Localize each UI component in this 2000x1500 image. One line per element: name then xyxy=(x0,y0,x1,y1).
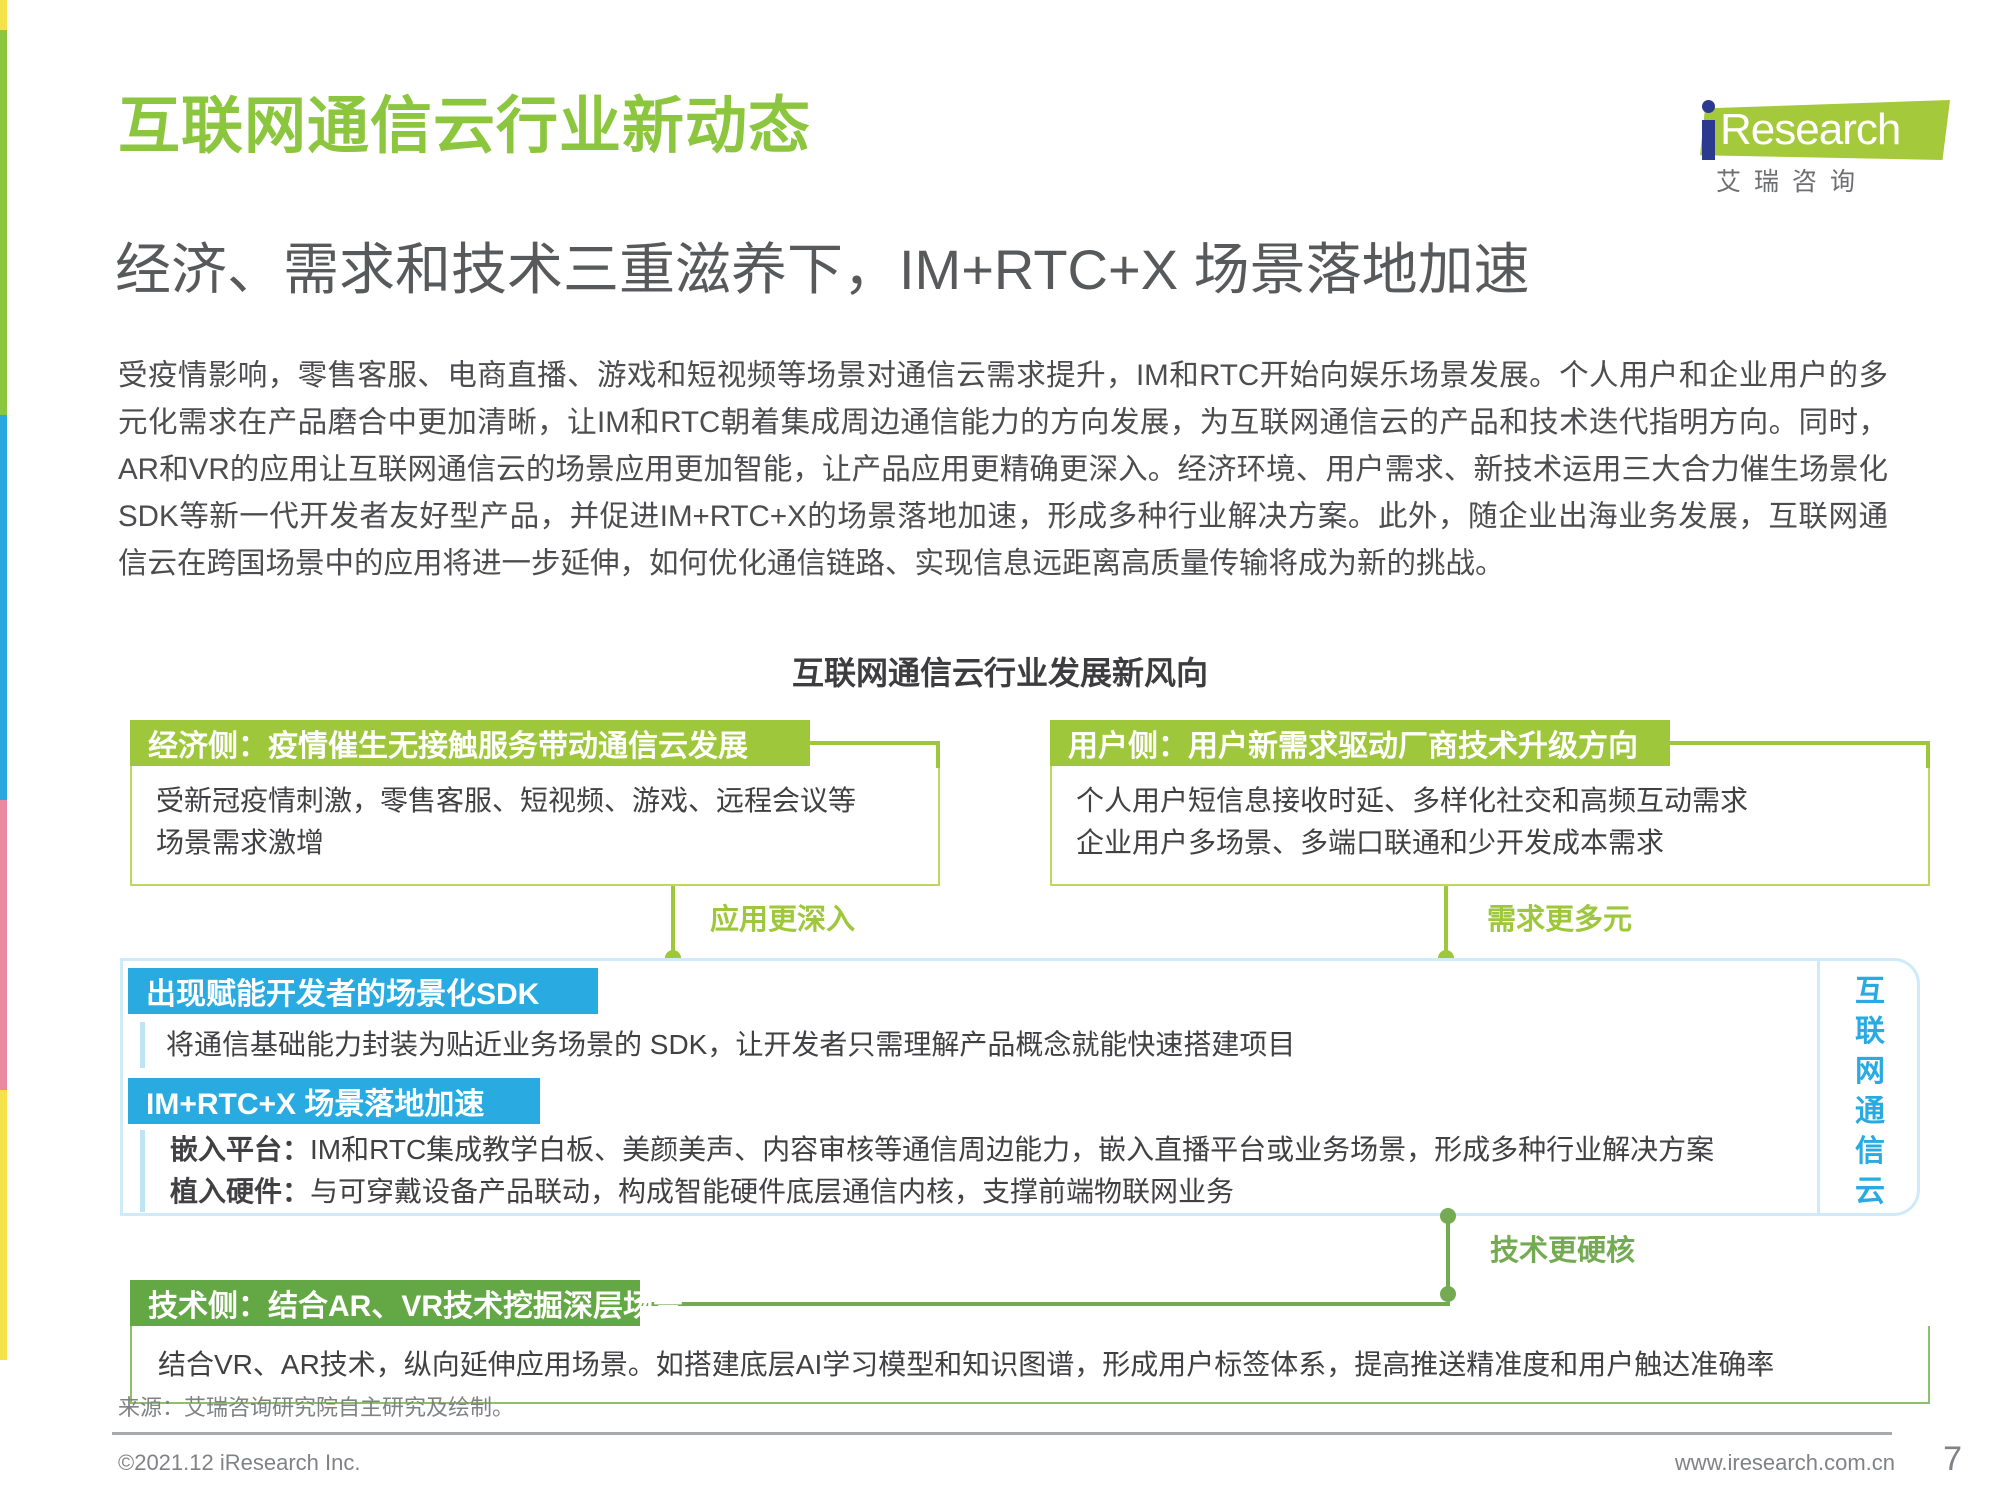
imrtc-tag: IM+RTC+X 场景落地加速 xyxy=(128,1078,540,1124)
right-connector-line xyxy=(1444,886,1448,958)
figure-diagram: 经济侧：疫情催生无接触服务带动通信云发展 受新冠疫情刺激，零售客服、短视频、游戏… xyxy=(0,700,2000,1400)
body-paragraph: 受疫情影响，零售客服、电商直播、游戏和短视频等场景对通信云需求提升，IM和RTC… xyxy=(118,352,1888,587)
imrtc-row-2: 植入硬件：与可穿戴设备产品联动，构成智能硬件底层通信内核，支撑前端物联网业务 xyxy=(170,1172,1810,1212)
imrtc-row-2-label: 植入硬件： xyxy=(170,1176,310,1207)
right-connector-label: 需求更多元 xyxy=(1487,896,1632,938)
copyright-text: ©2021.12 iResearch Inc. xyxy=(118,1450,360,1476)
economy-elbow-horizontal xyxy=(810,741,940,745)
user-tag: 用户侧：用户新需求驱动厂商技术升级方向 xyxy=(1050,720,1670,766)
imrtc-row-1-text: IM和RTC集成教学白板、美颜美声、内容审核等通信周边能力，嵌入直播平台或业务场… xyxy=(310,1134,1714,1165)
imrtc-accent-bar xyxy=(140,1130,145,1212)
imrtc-row-1: 嵌入平台：IM和RTC集成教学白板、美颜美声、内容审核等通信周边能力，嵌入直播平… xyxy=(170,1130,1810,1170)
logo-wordmark: Research xyxy=(1720,106,1900,154)
footer-divider xyxy=(112,1432,1892,1435)
sdk-tag: 出现赋能开发者的场景化SDK xyxy=(128,968,598,1014)
page-subtitle: 经济、需求和技术三重滋养下，IM+RTC+X 场景落地加速 xyxy=(115,242,1530,298)
economy-elbow-vertical xyxy=(936,741,940,768)
economy-line-2: 场景需求激增 xyxy=(156,822,926,864)
slide-page: 互联网通信云行业新动态 经济、需求和技术三重滋养下，IM+RTC+X 场景落地加… xyxy=(0,0,2000,1500)
tech-tag: 技术侧：结合AR、VR技术挖掘深层场景 xyxy=(130,1280,640,1326)
tech-elbow-horizontal xyxy=(640,1302,1450,1306)
vertical-label: 互 联 网 通 信 云 xyxy=(1850,972,1890,1212)
iresearch-logo: Research 艾瑞咨询 xyxy=(1682,88,1952,193)
economy-tag: 经济侧：疫情催生无接触服务带动通信云发展 xyxy=(130,720,810,766)
vertical-label-char-3: 网 xyxy=(1855,1055,1885,1088)
page-title: 互联网通信云行业新动态 xyxy=(118,96,811,158)
logo-chinese-name: 艾瑞咨询 xyxy=(1716,162,1868,198)
imrtc-row-2-text: 与可穿戴设备产品联动，构成智能硬件底层通信内核，支撑前端物联网业务 xyxy=(310,1176,1234,1207)
tech-connector-label: 技术更硬核 xyxy=(1490,1227,1635,1269)
website-text: www.iresearch.com.cn xyxy=(1675,1450,1895,1476)
vertical-label-char-1: 互 xyxy=(1855,975,1885,1008)
page-number: 7 xyxy=(1943,1440,1962,1479)
left-connector-line xyxy=(671,886,675,958)
user-line-2: 企业用户多场景、多端口联通和少开发成本需求 xyxy=(1076,822,1916,864)
tech-text: 结合VR、AR技术，纵向延伸应用场景。如搭建底层AI学习模型和知识图谱，形成用户… xyxy=(158,1344,1918,1386)
user-elbow-horizontal xyxy=(1670,741,1930,745)
logo-i-dot-icon xyxy=(1702,100,1715,113)
tech-connector-bottom-dot xyxy=(1440,1286,1456,1302)
tech-connector-line xyxy=(1446,1216,1450,1293)
vertical-label-char-5: 信 xyxy=(1855,1135,1885,1168)
logo-i-stem-icon xyxy=(1702,120,1715,160)
left-connector-label: 应用更深入 xyxy=(710,896,855,938)
figure-title: 互联网通信云行业发展新风向 xyxy=(0,648,2000,694)
vertical-label-char-2: 联 xyxy=(1855,1015,1885,1048)
user-line-1: 个人用户短信息接收时延、多样化社交和高频互动需求 xyxy=(1076,780,1916,822)
sdk-accent-bar xyxy=(140,1022,145,1068)
imrtc-row-1-label: 嵌入平台： xyxy=(170,1134,310,1165)
sdk-text: 将通信基础能力封装为贴近业务场景的 SDK，让开发者只需理解产品概念就能快速搭建… xyxy=(166,1024,1766,1066)
vertical-label-char-4: 通 xyxy=(1855,1095,1885,1128)
economy-line-1: 受新冠疫情刺激，零售客服、短视频、游戏、远程会议等 xyxy=(156,780,926,822)
vertical-label-char-6: 云 xyxy=(1855,1175,1885,1208)
user-elbow-vertical xyxy=(1926,741,1930,768)
source-note: 来源：艾瑞咨询研究院自主研究及绘制。 xyxy=(118,1390,514,1422)
